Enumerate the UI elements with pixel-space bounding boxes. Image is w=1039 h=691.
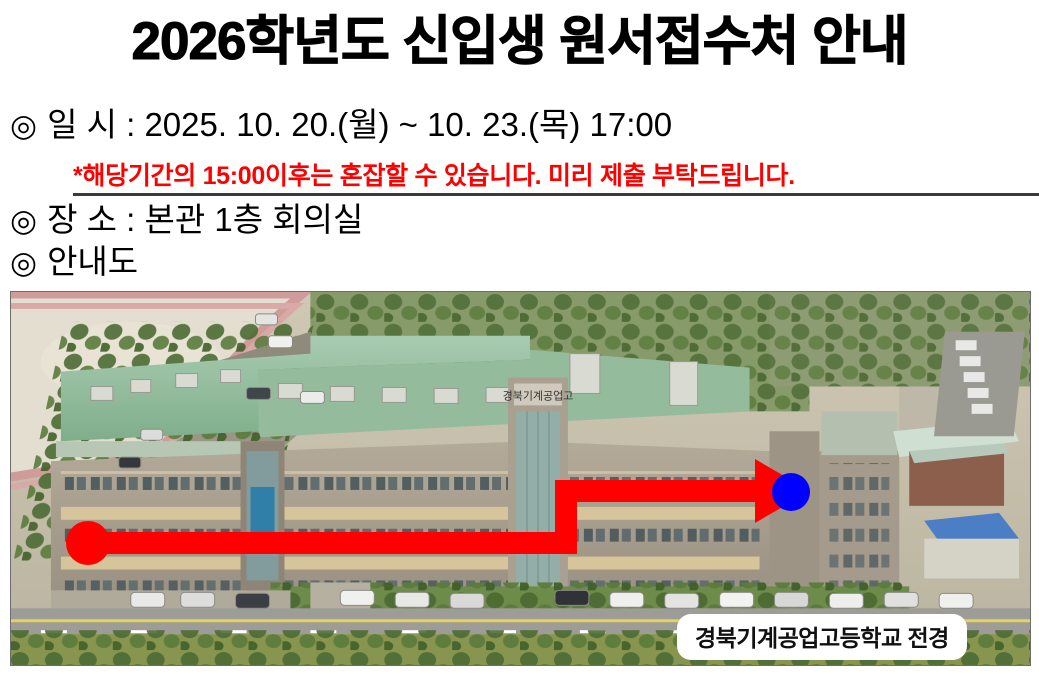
- date-line-text: 일 시 : 2025. 10. 20.(월) ~ 10. 23.(목) 17:0…: [47, 106, 672, 143]
- note-warning: *해당기간의 15:00이후는 혼잡할 수 있습니다. 미리 제출 부탁드립니다…: [73, 161, 795, 191]
- notice-page: 2026학년도 신입생 원서접수처 안내 ◎일 시 : 2025. 10. 20…: [0, 0, 1039, 691]
- info-line-date: ◎일 시 : 2025. 10. 20.(월) ~ 10. 23.(목) 17:…: [10, 106, 672, 145]
- building-sign-text: 경북기계공업고: [503, 389, 574, 402]
- page-title: 2026학년도 신입생 원서접수처 안내: [0, 12, 1039, 72]
- bullet-icon: ◎: [10, 202, 37, 240]
- info-line-map: ◎안내도: [10, 243, 138, 282]
- note-underline: [73, 193, 1039, 196]
- place-line-text: 장 소 : 본관 1층 회의실: [47, 201, 363, 238]
- aerial-photo: 경북기계공업고: [10, 291, 1031, 666]
- photo-caption: 경북기계공업고등학교 전경: [677, 614, 967, 660]
- bullet-icon: ◎: [10, 244, 37, 282]
- map-line-text: 안내도: [47, 243, 138, 280]
- bullet-icon: ◎: [10, 107, 37, 145]
- aerial-photo-image: 경북기계공업고: [11, 292, 1030, 665]
- info-line-place: ◎장 소 : 본관 1층 회의실: [10, 201, 363, 240]
